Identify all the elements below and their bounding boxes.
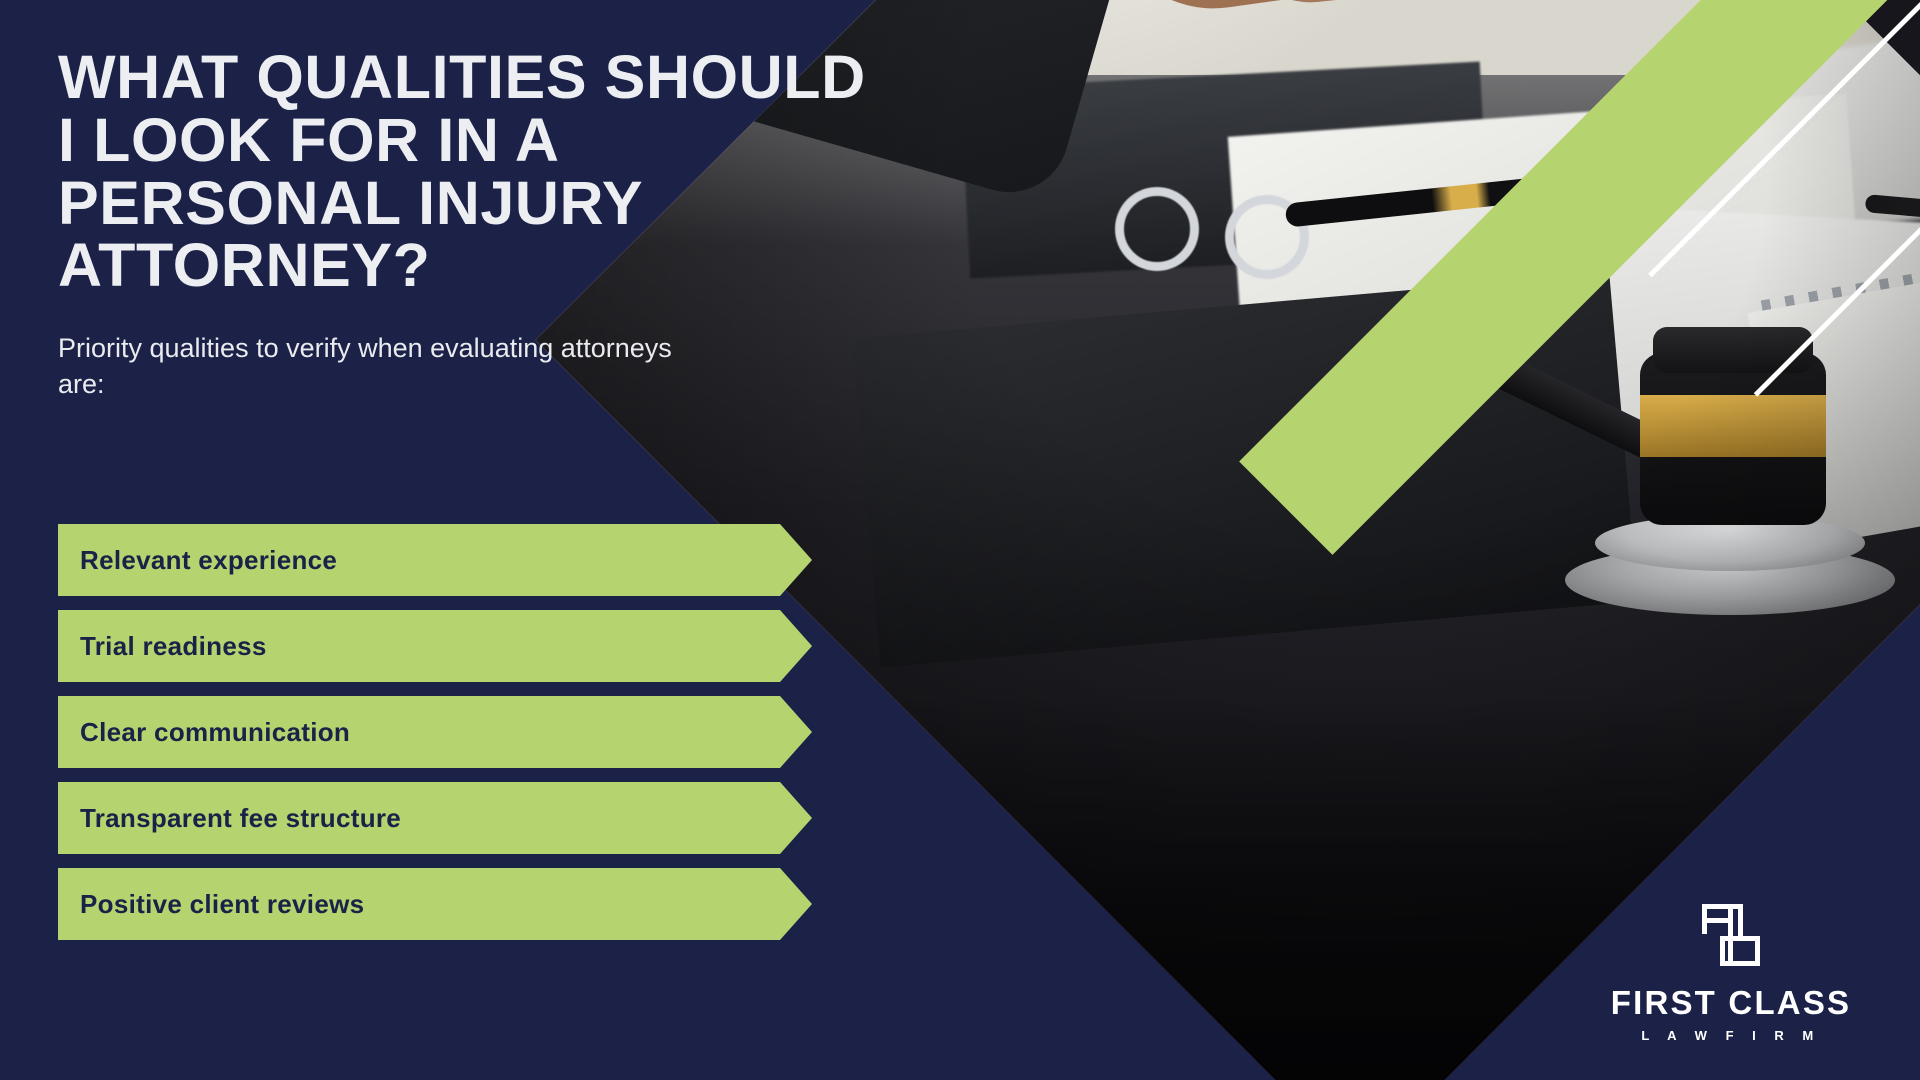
list-item-label: Positive client reviews: [80, 889, 364, 920]
brand-tagline: L A W F I R M: [1586, 1029, 1876, 1042]
list-item[interactable]: Trial readiness: [58, 610, 812, 682]
list-item[interactable]: Relevant experience: [58, 524, 812, 596]
list-item-label: Trial readiness: [80, 631, 267, 662]
list-item[interactable]: Clear communication: [58, 696, 812, 768]
list-item-label: Transparent fee structure: [80, 803, 401, 834]
text-block: WHAT QUALITIES SHOULD I LOOK FOR IN A PE…: [58, 46, 878, 403]
list-item-label: Relevant experience: [80, 545, 337, 576]
brand-name: FIRST CLASS: [1586, 986, 1876, 1019]
page-title: WHAT QUALITIES SHOULD I LOOK FOR IN A PE…: [58, 46, 888, 297]
infographic-canvas: WHAT QUALITIES SHOULD I LOOK FOR IN A PE…: [0, 0, 1920, 1080]
first-class-monogram-icon: [1692, 896, 1770, 974]
list-item-label: Clear communication: [80, 717, 350, 748]
brand-logo[interactable]: FIRST CLASS L A W F I R M: [1586, 896, 1876, 1042]
list-item[interactable]: Positive client reviews: [58, 868, 812, 940]
subtitle: Priority qualities to verify when evalua…: [58, 331, 718, 403]
qualities-list: Relevant experience Trial readiness Clea…: [58, 524, 818, 954]
list-item[interactable]: Transparent fee structure: [58, 782, 812, 854]
